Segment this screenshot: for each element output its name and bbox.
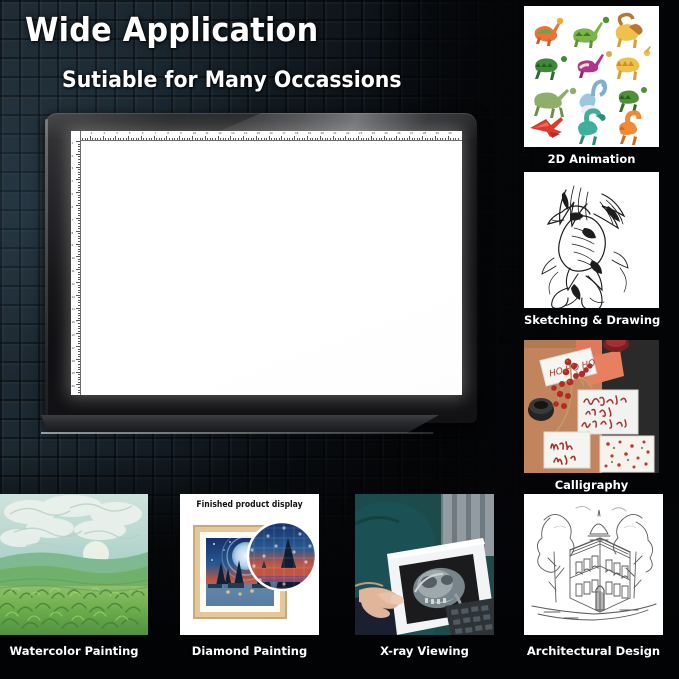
diamond-overlay-title: Finished product display [187, 500, 312, 510]
caption-2d-animation: 2D Animation [524, 149, 659, 169]
light-pad-base-highlight [41, 432, 433, 434]
caption-architectural: Architectural Design [524, 640, 663, 662]
caption-calligraphy: Calligraphy [524, 475, 659, 495]
thumbnail-xray [355, 494, 494, 635]
thumbnail-sketching [524, 172, 659, 308]
light-pad-left-highlight [45, 119, 48, 417]
building-sketch-illustration [524, 494, 663, 635]
calligraphy-photo-illustration: HO HO HO [524, 340, 659, 473]
thumbnail-2d-animation [524, 6, 659, 147]
caption-diamond-painting: Diamond Painting [180, 640, 319, 662]
light-pad-surface: 1234567891011121314151617181920212223242… [71, 131, 462, 395]
ruler-top: 1234567891011121314151617181920212223242… [71, 131, 462, 141]
thumbnail-architectural [524, 494, 663, 635]
thumbnail-diamond-painting: Finished product display [180, 494, 319, 635]
panel-xray-viewing[interactable]: X-ray Viewing [355, 494, 494, 662]
wheatfield-painting-illustration [0, 494, 148, 635]
infographic-page: Wide Application Sutiable for Many Occas… [0, 0, 679, 679]
panel-calligraphy[interactable]: HO HO HO [524, 340, 659, 495]
panel-sketching-drawing[interactable]: Sketching & Drawing [524, 172, 659, 330]
griffin-sketch-illustration [524, 172, 659, 308]
light-pad-base [41, 415, 439, 433]
panel-diamond-painting[interactable]: Finished product display Diamond Paintin… [180, 494, 319, 662]
ruler-left: 1234567891011121314151617181920 [71, 131, 81, 395]
page-title: Wide Application [25, 10, 318, 49]
panel-architectural-design[interactable]: Architectural Design [524, 494, 663, 662]
panel-2d-animation[interactable]: 2D Animation [524, 6, 659, 169]
caption-xray: X-ray Viewing [355, 640, 494, 662]
diamond-painting-illustration [180, 494, 319, 635]
caption-sketching: Sketching & Drawing [524, 310, 659, 330]
thumbnail-calligraphy: HO HO HO [524, 340, 659, 473]
caption-watercolor: Watercolor Painting [0, 640, 148, 662]
light-pad-device: 1234567891011121314151617181920212223242… [45, 113, 477, 423]
panel-watercolor-painting[interactable]: Watercolor Painting [0, 494, 148, 662]
dinosaur-grid-illustration [524, 6, 659, 147]
xray-viewing-photo-illustration [355, 494, 494, 635]
thumbnail-watercolor [0, 494, 148, 635]
page-subtitle: Sutiable for Many Occassions [62, 68, 402, 93]
